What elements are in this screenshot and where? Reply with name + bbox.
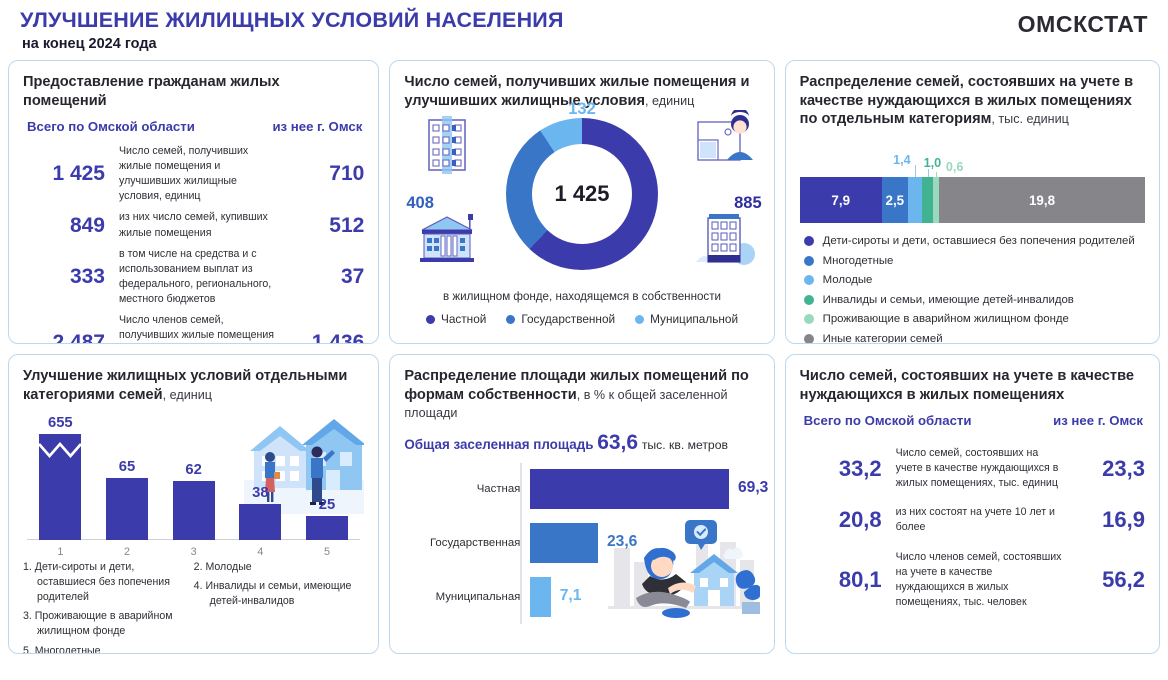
leader-line (936, 172, 937, 177)
legend-label: Молодые (823, 274, 873, 286)
legend-entry-4: 4. Инвалиды и семьи, имеющие детей-инвал… (194, 579, 365, 609)
vertical-bar-value-1: 655 (27, 415, 94, 431)
donut-caption: в жилищном фонде, находящемся в собствен… (390, 290, 773, 303)
row-description: Число членов семей, получивших жилые пом… (105, 313, 292, 344)
panel-title-unit: , единиц (163, 388, 212, 402)
total-area-line: Общая заселенная площадь 63,6 тыс. кв. м… (404, 431, 759, 455)
vertical-bar-3 (173, 481, 215, 541)
key-figures-list: 1 425 Число семей, получивших жилые поме… (9, 134, 378, 344)
key-figures-header: Всего по Омской области из нее г. Омск (786, 404, 1159, 428)
panel-title: Улучшение жилищных условий отдельными ка… (9, 355, 378, 404)
value-city: 710 (292, 162, 364, 186)
column-header-city: из нее г. Омск (1053, 413, 1143, 428)
vertical-bar-category-1: 1 (27, 546, 94, 558)
stacked-bar: 7,92,519,8 (800, 177, 1145, 223)
vertical-bar-value-4: 38 (227, 485, 294, 501)
donut-center-total: 1 425 (532, 144, 632, 244)
horizontal-bar-row-2: Государственная23,6 (404, 523, 759, 563)
legend-label: Дети-сироты и дети, оставшиеся без попеч… (823, 235, 1135, 247)
vertical-bar-plot: 6551652623384255 (27, 408, 360, 558)
value-city: 16,9 (1073, 507, 1145, 533)
vertical-bar-value-2: 65 (94, 459, 161, 475)
legend-label: Проживающие в аварийном жилищном фонде (823, 313, 1069, 325)
panel-improvement-by-category: Улучшение жилищных условий отдельными ка… (8, 354, 379, 654)
panel-title: Число семей, состоявших на учете в качес… (786, 355, 1159, 404)
legend-label: Инвалиды и семьи, имеющие детей-инвалидо… (823, 294, 1074, 306)
donut-value-municipal: 132 (568, 100, 596, 119)
total-area-unit: тыс. кв. метров (642, 438, 728, 452)
apartment-block-icon (416, 116, 478, 174)
vertical-bar-2 (106, 478, 148, 541)
vertical-bar-legend: 1. Дети-сироты и дети, оставшиеся без по… (23, 560, 364, 654)
stacked-segment-1: 7,9 (800, 177, 882, 223)
key-figure-row: 2 487 Число членов семей, получивших жил… (23, 313, 364, 344)
stacked-segment-4 (922, 177, 932, 223)
vertical-bar-category-5: 5 (294, 546, 361, 558)
legend-item-orphans: Дети-сироты и дети, оставшиеся без попеч… (804, 235, 1145, 247)
panel-registered-families: Число семей, состоявших на учете в качес… (785, 354, 1160, 654)
floorplan-architect-icon (696, 110, 758, 168)
stacked-label-young: 1,4 (893, 153, 911, 167)
key-figure-row: 333 в том числе на средства и с использо… (23, 247, 364, 307)
high-rise-icon (696, 210, 758, 268)
legend-dot-icon (426, 315, 435, 324)
legend-dot-icon (804, 275, 814, 285)
horizontal-bar-value-1: 69,3 (738, 479, 768, 497)
horizontal-bar-label-3: Муниципальная (404, 591, 530, 603)
value-city: 56,2 (1073, 567, 1145, 593)
donut-value-state: 408 (406, 194, 434, 213)
value-region: 849 (23, 214, 105, 238)
value-city: 23,3 (1073, 456, 1145, 482)
panel-row-bottom: Улучшение жилищных условий отдельными ка… (8, 354, 1160, 654)
vertical-bar-4 (239, 504, 281, 541)
brand-logo: ОМСКСТАТ (1018, 11, 1148, 38)
column-header-city: из нее г. Омск (272, 119, 362, 134)
stacked-segment-6: 19,8 (939, 177, 1145, 223)
legend-item-invalids: Инвалиды и семьи, имеющие детей-инвалидо… (804, 294, 1145, 306)
row-description: Число членов семей, состоявших на учете … (882, 550, 1073, 610)
legend-label: Государственной (521, 312, 615, 326)
leader-line (928, 169, 929, 177)
vertical-bar-value-5: 25 (294, 497, 361, 513)
vertical-bar-chart: 6551652623384255 (23, 408, 364, 558)
row-description: в том числе на средства и с использовани… (105, 247, 292, 307)
legend-label: Иные категории семей (823, 333, 943, 344)
key-figure-row: 33,2 Число семей, состоявших на учете в … (800, 446, 1145, 491)
value-region: 20,8 (800, 507, 882, 533)
stacked-segment-2: 2,5 (882, 177, 908, 223)
panel-title: Распределение семей, состоявших на учете… (786, 61, 1159, 129)
legend-label: Муниципальной (650, 312, 738, 326)
horizontal-bar-row-1: Частная69,3 (404, 469, 759, 509)
key-figures-header: Всего по Омской области из нее г. Омск (9, 110, 378, 134)
legend-dot-icon (804, 295, 814, 305)
legend-dot-icon (804, 314, 814, 324)
page-header: УЛУЧШЕНИЕ ЖИЛИЩНЫХ УСЛОВИЙ НАСЕЛЕНИЯ на … (8, 0, 1160, 60)
stacked-leader-lines (800, 167, 1145, 177)
horizontal-bar-track: 7,1 (530, 577, 759, 617)
value-city: 1 436 (292, 331, 364, 344)
horizontal-bar-value-2: 23,6 (607, 533, 637, 551)
legend-column-right: 2. Молодые 4. Инвалиды и семьи, имеющие … (194, 560, 365, 654)
legend-dot-icon (804, 334, 814, 344)
key-figure-row: 80,1 Число членов семей, состоявших на у… (800, 550, 1145, 610)
row-description: Число семей, получивших жилые помещения … (105, 144, 292, 204)
horizontal-bar-label-1: Частная (404, 483, 530, 495)
row-description: Число семей, состоявших на учете в качес… (882, 446, 1073, 491)
value-region: 80,1 (800, 567, 882, 593)
page-subtitle: на конец 2024 года (22, 36, 157, 52)
page-title: УЛУЧШЕНИЕ ЖИЛИЩНЫХ УСЛОВИЙ НАСЕЛЕНИЯ (20, 8, 564, 33)
legend-item-large-families: Многодетные (804, 255, 1145, 267)
value-region: 33,2 (800, 456, 882, 482)
legend-item-other: Иные категории семей (804, 333, 1145, 344)
value-region: 333 (23, 265, 105, 289)
legend-column-left: 1. Дети-сироты и дети, оставшиеся без по… (23, 560, 194, 654)
vertical-bar-category-3: 3 (160, 546, 227, 558)
panel-title-unit: , единиц (645, 94, 694, 108)
horizontal-bar-row-3: Муниципальная7,1 (404, 577, 759, 617)
panel-title: Распределение площади жилых помещений по… (390, 355, 773, 423)
horizontal-bar-chart: Частная69,3Государственная23,6Муниципаль… (404, 463, 759, 628)
panel-title: Предоставление гражданам жилых помещений (9, 61, 378, 110)
key-figures-list: 33,2 Число семей, состоявших на учете в … (786, 428, 1159, 609)
donut-legend: Частной Государственной Муниципальной (390, 312, 773, 326)
donut-chart-area: 132 408 885 1 425 (390, 112, 773, 284)
panel-registered-categories: Распределение семей, состоявших на учете… (785, 60, 1160, 344)
value-city: 512 (292, 214, 364, 238)
value-city: 37 (292, 265, 364, 289)
row-description: из них состоят на учете 10 лет и более (882, 505, 1073, 535)
panel-families-donut: Число семей, получивших жилые помещения … (389, 60, 774, 344)
horizontal-bar-track: 23,6 (530, 523, 759, 563)
axis-break-zigzag-icon (39, 442, 81, 458)
horizontal-bar-value-3: 7,1 (560, 587, 582, 605)
stacked-segment-3 (908, 177, 923, 223)
legend-entry-3: 3. Проживающие в аварийном жилищном фонд… (23, 609, 194, 639)
legend-item-private: Частной (426, 312, 486, 326)
legend-dot-icon (506, 315, 515, 324)
legend-dot-icon (804, 236, 814, 246)
stacked-outer-labels: 1,4 1,0 0,6 (800, 141, 1145, 167)
legend-item-emergency-housing: Проживающие в аварийном жилищном фонде (804, 313, 1145, 325)
legend-item-state: Государственной (506, 312, 615, 326)
panel-row-top: Предоставление гражданам жилых помещений… (8, 60, 1160, 344)
key-figure-row: 1 425 Число семей, получивших жилые поме… (23, 144, 364, 204)
panel-title-unit: , тыс. единиц (991, 112, 1068, 126)
legend-entry-1: 1. Дети-сироты и дети, оставшиеся без по… (23, 560, 194, 605)
leader-line (915, 165, 916, 177)
horizontal-bar-2 (530, 523, 598, 563)
value-region: 1 425 (23, 162, 105, 186)
value-region: 2 487 (23, 331, 105, 344)
government-building-icon (416, 212, 478, 270)
horizontal-bar-3 (530, 577, 550, 617)
column-header-region: Всего по Омской области (27, 119, 195, 134)
legend-label: Частной (441, 312, 486, 326)
total-area-value: 63,6 (597, 431, 638, 454)
horizontal-bar-track: 69,3 (530, 469, 759, 509)
key-figure-row: 20,8 из них состоят на учете 10 лет и бо… (800, 505, 1145, 535)
vertical-bar-value-3: 62 (160, 462, 227, 478)
vertical-bar-5 (306, 516, 348, 540)
column-header-region: Всего по Омской области (804, 413, 972, 428)
legend-item-young: Молодые (804, 274, 1145, 286)
donut-value-private: 885 (734, 194, 762, 213)
infographic-page: УЛУЧШЕНИЕ ЖИЛИЩНЫХ УСЛОВИЙ НАСЕЛЕНИЯ на … (0, 0, 1168, 680)
stacked-legend: Дети-сироты и дети, оставшиеся без попеч… (804, 235, 1145, 344)
panel-housing-provision: Предоставление гражданам жилых помещений… (8, 60, 379, 344)
donut-ring: 1 425 (506, 118, 658, 270)
horizontal-bar-1 (530, 469, 729, 509)
legend-entry-5: 5. Многодетные (23, 644, 194, 655)
key-figure-row: 849 из них число семей, купивших жилые п… (23, 210, 364, 240)
panel-area-by-ownership: Распределение площади жилых помещений по… (389, 354, 774, 654)
legend-dot-icon (804, 256, 814, 266)
legend-dot-icon (635, 315, 644, 324)
total-area-label: Общая заселенная площадь (404, 437, 593, 452)
legend-entry-2: 2. Молодые (194, 560, 365, 575)
vertical-bar-category-4: 4 (227, 546, 294, 558)
row-description: из них число семей, купивших жилые помещ… (105, 210, 292, 240)
legend-item-municipal: Муниципальной (635, 312, 738, 326)
legend-label: Многодетные (823, 255, 894, 267)
panel-grid: Предоставление гражданам жилых помещений… (8, 60, 1160, 654)
horizontal-bar-label-2: Государственная (404, 537, 530, 549)
panel-title-main: Распределение семей, состоявших на учете… (800, 74, 1133, 127)
vertical-bar-category-2: 2 (94, 546, 161, 558)
